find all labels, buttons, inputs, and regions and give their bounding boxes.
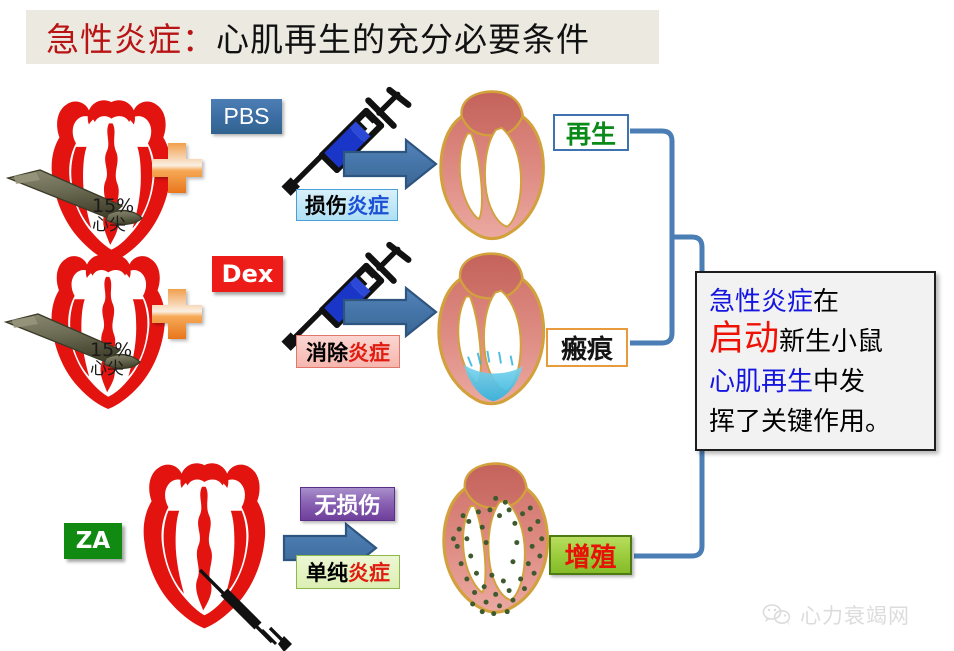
treatment-tag-dex: Dex — [212, 256, 283, 292]
red-heart-outline-icon-row1 — [52, 100, 171, 262]
conclusion-line-2: 启动新生小鼠 — [709, 322, 928, 362]
outcome-label-scar: 瘢痕 — [546, 328, 628, 367]
conclusion-line-4-black: 挥了关键作用。 — [709, 407, 891, 437]
plus-icon-row2 — [152, 289, 202, 339]
red-heart-outline-icon-row3 — [144, 463, 266, 628]
conclusion-line-3: 心肌再生中发 — [709, 362, 928, 402]
heart-cross-section-scar-icon-row2 — [439, 254, 544, 404]
inflammation-caption-key-row3: 单纯 — [306, 557, 348, 587]
conclusion-box: 急性炎症在 启动新生小鼠 心肌再生中发 挥了关键作用。 — [695, 271, 936, 451]
treatment-tag-za: ZA — [64, 523, 122, 559]
conclusion-line-3-black: 中发 — [813, 367, 865, 397]
syringe-icon-row2 — [284, 245, 408, 348]
heart-cross-section-proliferating-icon-row3 — [444, 464, 548, 616]
conclusion-line-3-blue: 心肌再生 — [709, 367, 813, 397]
inflammation-caption-key-row1: 损伤 — [305, 190, 347, 220]
surgery-resection-pct-row2: 15% — [90, 341, 132, 361]
watermark: 心力衰竭网 — [762, 600, 910, 630]
bracket-connector-icon — [630, 131, 702, 556]
conclusion-line-1: 急性炎症在 — [709, 282, 928, 322]
surgery-resection-pct-row1: 15% — [92, 197, 134, 217]
page-title-highlight: 急性炎症： — [46, 20, 216, 59]
proliferating-cell-dots — [451, 496, 544, 616]
heart-cross-section-icon-row1 — [441, 92, 544, 239]
conclusion-line-2-black: 新生小鼠 — [779, 327, 883, 357]
wechat-icon — [762, 603, 792, 627]
watermark-text: 心力衰竭网 — [800, 600, 910, 630]
conclusion-line-4: 挥了关键作用。 — [709, 402, 928, 442]
page-title-rest: 心肌再生的充分必要条件 — [216, 20, 590, 59]
plus-icon-row1 — [152, 143, 202, 193]
inflammation-caption-value-row2: 炎症 — [348, 337, 390, 367]
inflammation-caption-row1: 损伤炎症 — [296, 189, 398, 221]
page-title: 急性炎症：心肌再生的充分必要条件 — [26, 13, 590, 61]
slide-canvas: 急性炎症：心肌再生的充分必要条件 — [0, 0, 954, 651]
surgery-site-row2: 心尖 — [90, 361, 132, 379]
surgery-site-row1: 心尖 — [92, 217, 134, 235]
slide-title-bar: 急性炎症：心肌再生的充分必要条件 — [26, 10, 659, 64]
inflammation-caption-value-row3: 炎症 — [348, 557, 390, 587]
inflammation-caption-value-row1: 炎症 — [347, 190, 389, 220]
inflammation-caption-row2: 消除炎症 — [296, 335, 400, 368]
outcome-label-regeneration: 再生 — [553, 114, 629, 151]
surgery-note-row2: 15% 心尖 — [90, 341, 132, 379]
wechat-icon-svg — [762, 603, 792, 627]
inflammation-caption-row3: 单纯炎症 — [296, 555, 400, 589]
conclusion-line-1-black: 在 — [813, 287, 839, 317]
treatment-tag-pbs: PBS — [211, 99, 282, 134]
right-arrow-icon-row2 — [344, 288, 436, 336]
red-heart-outline-icon-row2 — [52, 255, 165, 409]
syringe-icon-row1 — [284, 90, 408, 193]
conclusion-line-2-red: 启动 — [709, 319, 779, 359]
needle-icon-row3 — [200, 570, 292, 651]
right-arrow-icon-row1 — [344, 140, 436, 188]
no-damage-tag: 无损伤 — [300, 487, 395, 521]
outcome-label-proliferation: 增殖 — [549, 535, 632, 575]
conclusion-line-1-blue: 急性炎症 — [709, 287, 813, 317]
surgery-note-row1: 15% 心尖 — [92, 197, 134, 235]
inflammation-caption-key-row2: 消除 — [306, 337, 348, 367]
